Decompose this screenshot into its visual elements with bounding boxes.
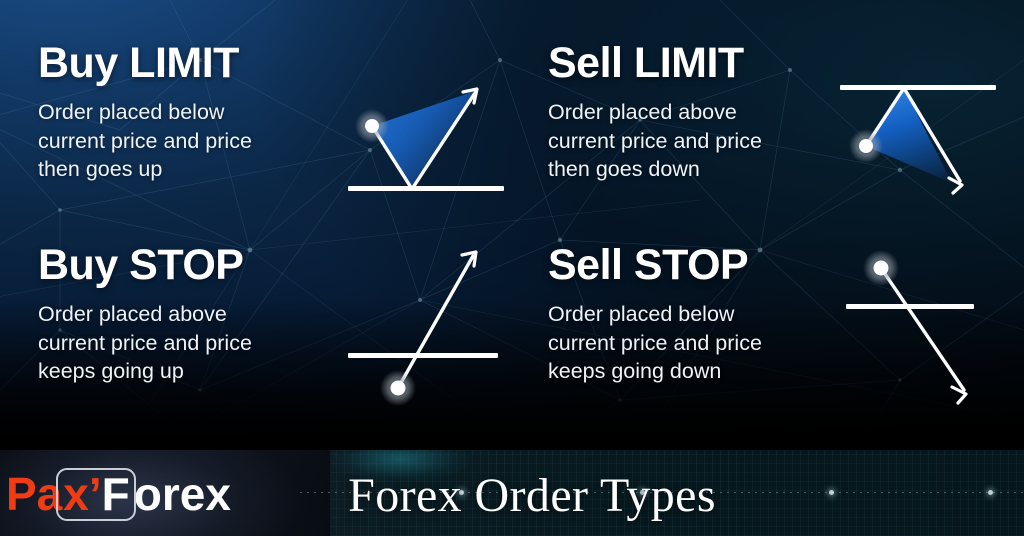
quadrant-sell-stop: Sell STOP Order placed below current pri… [548,240,762,386]
sell-stop-description: Order placed below current price and pri… [548,300,762,386]
footer-top-divider [0,448,1024,450]
forex-order-types-infographic: Buy LIMIT Order placed below current pri… [0,0,1024,536]
logo-box-outline: x’F [56,468,135,521]
footer-bar: Pa x’F orex Forex Order Types [0,448,1024,536]
buy-limit-description: Order placed below current price and pri… [38,98,252,184]
buy-stop-price-line [348,353,498,358]
buy-stop-order-dot [391,381,406,396]
paxforex-logo[interactable]: Pa x’F orex [6,468,231,520]
sell-limit-order-dot [859,139,873,153]
logo-text-x: x [63,468,89,520]
quadrant-sell-limit: Sell LIMIT Order placed above current pr… [548,38,762,184]
footer-title: Forex Order Types [292,464,772,526]
buy-limit-diagram [330,58,520,213]
sell-limit-price-line [840,85,996,90]
sell-limit-description: Order placed above current price and pri… [548,98,762,184]
sell-stop-title: Sell STOP [548,240,762,290]
sell-stop-order-dot [874,261,889,276]
sell-stop-path [881,268,964,390]
buy-limit-fill [372,90,478,189]
logo-text-pax: Pa [6,471,62,517]
quadrant-buy-stop: Buy STOP Order placed above current pric… [38,240,252,386]
logo-text-orex: orex [134,471,231,517]
sell-limit-diagram [822,58,1012,213]
buy-limit-title: Buy LIMIT [38,38,252,88]
buy-stop-title: Buy STOP [38,240,252,290]
buy-stop-diagram [330,238,520,413]
buy-limit-price-line [348,186,504,191]
buy-stop-path [398,256,473,388]
logo-apostrophe: ’ [89,468,102,520]
quadrant-buy-limit: Buy LIMIT Order placed below current pri… [38,38,252,184]
logo-text-f: F [102,468,130,520]
buy-stop-description: Order placed above current price and pri… [38,300,252,386]
buy-limit-order-dot [365,119,379,133]
sell-stop-diagram [822,238,1012,413]
sell-limit-title: Sell LIMIT [548,38,762,88]
